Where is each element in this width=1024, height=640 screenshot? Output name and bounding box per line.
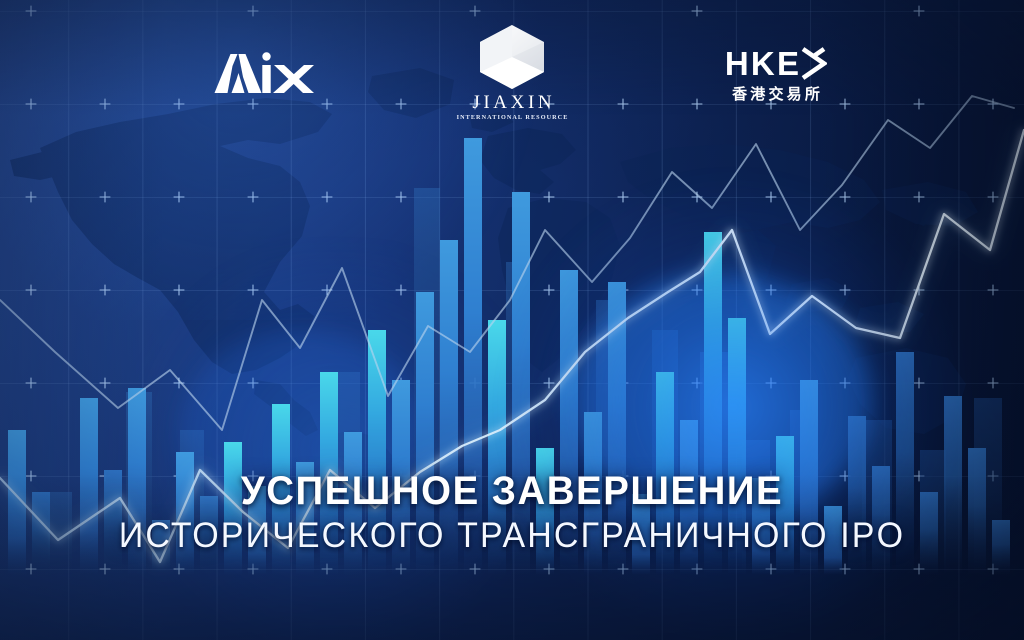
hkex-letter-k: K — [751, 47, 776, 80]
headline-line-2: ИСТОРИЧЕСКОГО ТРАНСГРАНИЧНОГО IPO — [15, 517, 1008, 554]
logo-hkex: H K E 香港交易所 — [706, 47, 846, 107]
hkex-x-icon — [801, 47, 827, 80]
aix-wordmark-icon — [214, 49, 314, 93]
hkex-letter-e: E — [777, 47, 800, 80]
logo-aix — [214, 49, 314, 93]
hkex-chinese-name: 香港交易所 — [706, 87, 846, 102]
logo-jiaxin: JIAXIN INTERNATIONAL RESOURCE — [452, 22, 572, 132]
hexagon-icon — [452, 22, 572, 92]
headline-block: УСПЕШНОЕ ЗАВЕРШЕНИЕ ИСТОРИЧЕСКОГО ТРАНСГ… — [0, 470, 1024, 554]
poster-canvas: JIAXIN INTERNATIONAL RESOURCE H K E 香港交易… — [0, 0, 1024, 640]
headline-line-1: УСПЕШНОЕ ЗАВЕРШЕНИЕ — [20, 470, 1003, 512]
hkex-wordmark: H K E — [706, 47, 846, 80]
hkex-letter-h: H — [725, 47, 750, 80]
jiaxin-wordmark: JIAXIN — [452, 93, 572, 112]
jiaxin-tagline: INTERNATIONAL RESOURCE — [452, 115, 572, 121]
logo-row: JIAXIN INTERNATIONAL RESOURCE H K E 香港交易… — [0, 0, 1024, 150]
